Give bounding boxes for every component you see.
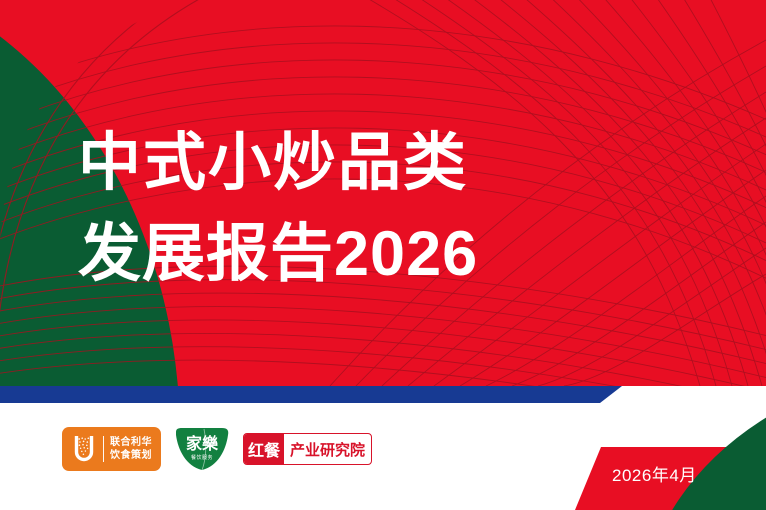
publication-date: 2026年4月 [612,461,697,486]
title-line-1: 中式小炒品类 [78,132,698,195]
logo-divider [103,436,104,462]
hongcan-label: 产业研究院 [284,434,371,464]
partner-logo-row: 联合利华 饮食策划 家樂 餐饮服务 红餐 产业研究院 [62,426,372,472]
report-cover: 中式小炒品类 发展报告2026 2026年4月 [0,0,766,510]
hongcan-badge: 红餐 [244,434,284,464]
unilever-u-icon [71,434,97,464]
cover-title: 中式小炒品类 发展报告2026 [78,132,698,286]
knorr-subtext: 餐饮服务 [173,454,231,461]
unilever-line-1: 联合利华 [110,436,152,450]
blue-accent-band [0,386,622,403]
unilever-wordmark: 联合利华 饮食策划 [110,436,152,463]
logo-unilever-food-solutions: 联合利华 饮食策划 [62,427,161,471]
logo-knorr: 家樂 餐饮服务 [173,426,231,472]
logo-hongcan-research-institute: 红餐 产业研究院 [243,433,372,465]
title-line-2: 发展报告2026 [78,223,698,286]
knorr-wordmark: 家樂 [173,437,231,453]
unilever-line-2: 饮食策划 [110,449,152,463]
